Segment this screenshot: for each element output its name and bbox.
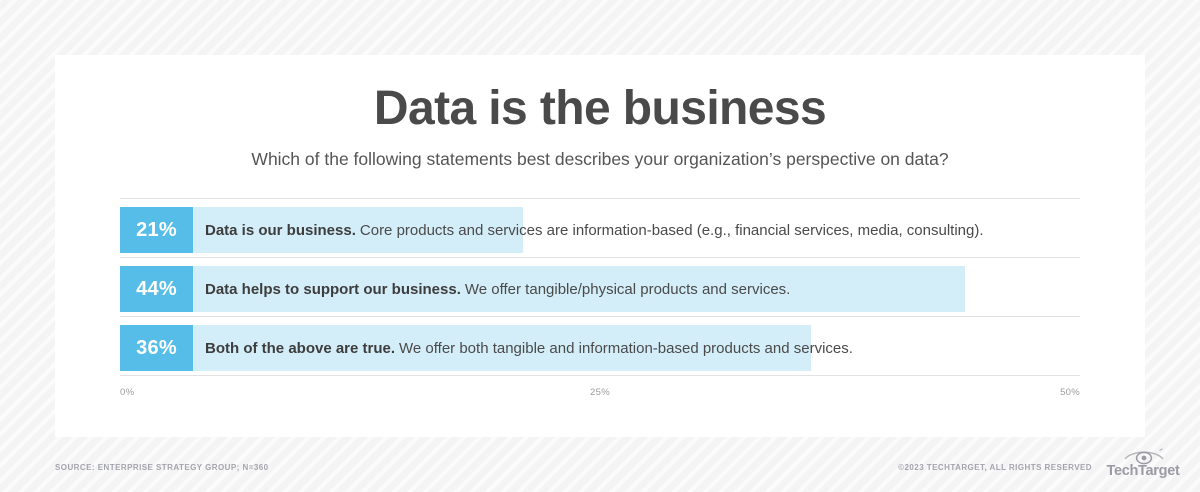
axis-tick-1: 25% [590,387,610,398]
x-axis: 0% 25% 50% [120,387,1080,403]
gridline-bottom [120,375,1080,376]
bar-row[interactable]: 21% Data is our business. Core products … [120,207,1080,253]
gridline-1 [120,257,1080,258]
plot-area: 21% Data is our business. Core products … [120,198,1080,384]
bar-percent-badge: 36% [120,325,193,371]
bar-label-detail: Core products and services are informati… [360,222,984,239]
bar-row[interactable]: 44% Data helps to support our business. … [120,266,1080,312]
axis-tick-2: 50% [1060,387,1080,398]
bar-label: Both of the above are true. We offer bot… [205,325,853,371]
source-note: SOURCE: ENTERPRISE STRATEGY GROUP; N=360 [55,463,269,472]
bar-label-detail: We offer tangible/physical products and … [465,281,790,298]
copyright-note: ©2023 TECHTARGET, ALL RIGHTS RESERVED [898,463,1092,472]
bar-row[interactable]: 36% Both of the above are true. We offer… [120,325,1080,371]
bar-percent-badge: 21% [120,207,193,253]
techtarget-logo: TechTarget [1099,448,1187,482]
chart-card: Data is the business Which of the follow… [55,55,1145,437]
bar-percent-badge: 44% [120,266,193,312]
gridline-top [120,198,1080,199]
bar-label-detail: We offer both tangible and information-b… [399,340,853,357]
axis-tick-0: 0% [120,387,134,398]
bar-label: Data helps to support our business. We o… [205,266,790,312]
page-title: Data is the business [55,84,1145,134]
logo-wordmark: TechTarget [1099,463,1187,479]
bar-label-lead: Data helps to support our business. [205,281,461,298]
chart-subtitle: Which of the following statements best d… [55,149,1145,170]
bar-label: Data is our business. Core products and … [205,207,984,253]
gridline-2 [120,316,1080,317]
bar-label-lead: Both of the above are true. [205,340,395,357]
bar-label-lead: Data is our business. [205,222,356,239]
